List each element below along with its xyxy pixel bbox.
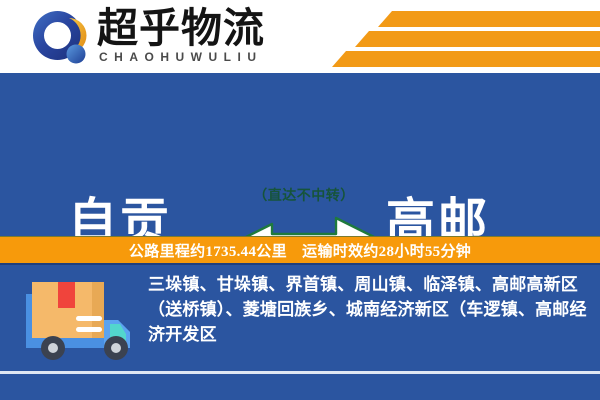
route-caption-top: （直达不中转） [228, 185, 380, 205]
route-section: 自贡 高邮 （直达不中转） 【往返运输】 [0, 73, 600, 236]
road-line [0, 371, 600, 374]
route-info-bar: 公路里程约1735.44公里 运输时效约28小时55分钟 [0, 236, 600, 265]
logistics-route-banner: 超乎物流 CHAOHUWULIU 自贡 高邮 （直达不中转） 【往返运输】 公路… [0, 0, 600, 400]
decorative-stripe-3 [332, 51, 600, 67]
decorative-stripe-2 [355, 31, 600, 47]
coverage-areas-text: 三垛镇、甘垛镇、界首镇、周山镇、临泽镇、高邮高新区（送桥镇）、菱塘回族乡、城南经… [148, 272, 588, 347]
delivery-truck-icon [22, 274, 142, 371]
brand-name-cn: 超乎物流 [97, 6, 265, 50]
brand-name-en: CHAOHUWULIU [99, 50, 263, 64]
brand-logo-icon [31, 9, 93, 67]
route-info-text: 公路里程约1735.44公里 运输时效约28小时55分钟 [129, 240, 471, 261]
banner-header: 超乎物流 CHAOHUWULIU [0, 0, 600, 73]
decorative-stripe-1 [378, 11, 600, 27]
